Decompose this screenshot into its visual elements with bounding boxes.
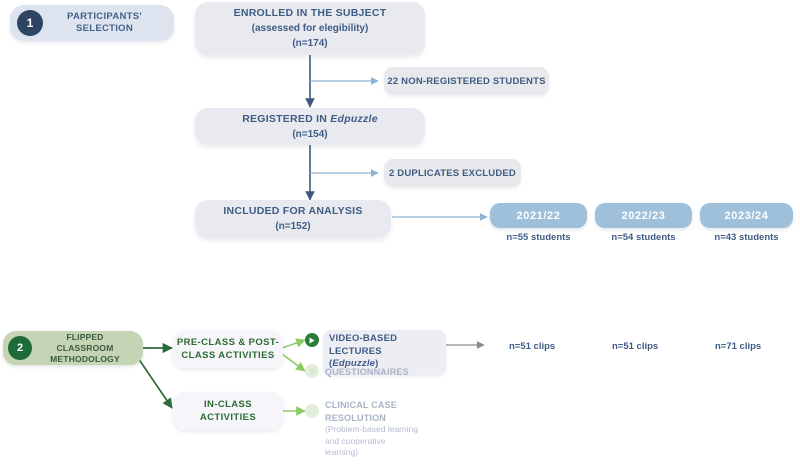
clip-count-2: n=51 clips: [612, 341, 658, 352]
stage-2-number: 2: [8, 336, 32, 360]
clinical-case-glyph-icon: [308, 407, 316, 415]
box-pre-class-post-class-activities: PRE-CLASS & POST- CLASS ACTIVITIES: [173, 330, 283, 368]
clip-count-1: n=51 clips: [509, 341, 555, 352]
box-included-for-analysis: INCLUDED FOR ANALYSIS (n=152): [195, 200, 391, 238]
stage-2-badge: 2 FLIPPED CLASSROOM METHODOLOGY: [3, 331, 143, 365]
pre-class-label: PRE-CLASS & POST- CLASS ACTIVITIES: [177, 336, 279, 362]
cohort-students-3: n=43 students: [700, 232, 793, 243]
box-duplicates-excluded: 2 DUPLICATES EXCLUDED: [384, 159, 521, 187]
registered-title-italic: Edpuzzle: [330, 113, 378, 125]
stage-1-badge: 1 PARTICIPANTS' SELECTION: [10, 5, 174, 41]
clinical-case-title-line1: CLINICAL CASE: [325, 399, 475, 412]
clinical-case-sub-line3: learning): [325, 447, 475, 459]
enrolled-subtitle: (assessed for elegibility): [252, 21, 369, 36]
clip-count-label: n=51 clips: [509, 341, 555, 352]
in-class-line1: IN-CLASS: [204, 399, 252, 410]
clip-count-label: n=71 clips: [715, 341, 761, 352]
play-triangle-icon: [309, 337, 315, 344]
stage-1-label-line2: SELECTION: [76, 23, 133, 34]
clinical-case-sub-line2: and cooperative: [325, 436, 475, 448]
activity-questionnaires: QUESTIONNAIRES: [325, 366, 455, 379]
play-circle-icon: [305, 333, 319, 347]
pre-class-line1: PRE-CLASS & POST-: [177, 337, 279, 348]
cohort-year-label: 2022/23: [622, 210, 666, 222]
questionnaire-lines-icon: [309, 368, 316, 375]
stage-2-label-line1: FLIPPED CLASSROOM: [56, 332, 113, 353]
stage-1-label-line1: PARTICIPANTS': [67, 11, 142, 22]
stage-2-label: FLIPPED CLASSROOM METHODOLOGY: [32, 332, 133, 365]
flowchart-canvas: 1 PARTICIPANTS' SELECTION ENROLLED IN TH…: [0, 0, 800, 467]
clip-count-3: n=71 clips: [715, 341, 761, 352]
stage-1-number: 1: [17, 10, 43, 36]
questionnaires-title: QUESTIONNAIRES: [325, 367, 409, 377]
cohort-students-label: n=54 students: [611, 232, 675, 243]
cohort-year-label: 2021/22: [517, 210, 561, 222]
clinical-case-icon: [305, 404, 319, 418]
stage-2-label-line2: METHODOLOGY: [50, 354, 120, 364]
cohort-year-box-3: 2023/24: [700, 203, 793, 228]
in-class-label: IN-CLASS ACTIVITIES: [200, 398, 256, 424]
registered-title: REGISTERED IN Edpuzzle: [242, 112, 378, 127]
in-class-line2: ACTIVITIES: [200, 412, 256, 423]
included-count: (n=152): [275, 219, 310, 234]
clinical-case-title-line2: RESOLUTION: [325, 412, 475, 425]
registered-title-prefix: REGISTERED IN: [242, 113, 330, 125]
non-registered-label: 22 NON-REGISTERED STUDENTS: [387, 76, 545, 87]
enrolled-title: ENROLLED IN THE SUBJECT: [234, 6, 387, 21]
registered-count: (n=154): [292, 127, 327, 142]
cohort-year-box-1: 2021/22: [490, 203, 587, 228]
stage-1-label: PARTICIPANTS' SELECTION: [43, 11, 160, 35]
box-non-registered-students: 22 NON-REGISTERED STUDENTS: [384, 67, 549, 95]
enrolled-count: (n=174): [292, 36, 327, 51]
pre-class-line2: CLASS ACTIVITIES: [181, 350, 274, 361]
cohort-students-label: n=43 students: [714, 232, 778, 243]
cohort-year-label: 2023/24: [725, 210, 769, 222]
cohort-students-1: n=55 students: [490, 232, 587, 243]
box-enrolled-in-subject: ENROLLED IN THE SUBJECT (assessed for el…: [195, 2, 425, 55]
clip-count-label: n=51 clips: [612, 341, 658, 352]
box-registered-edpuzzle: REGISTERED IN Edpuzzle (n=154): [195, 108, 425, 145]
activity-clinical-case-resolution: CLINICAL CASE RESOLUTION (Problem-based …: [325, 399, 475, 459]
clinical-case-sub-line1: (Problem-based learning: [325, 424, 475, 436]
included-title: INCLUDED FOR ANALYSIS: [223, 204, 362, 219]
cohort-students-2: n=54 students: [595, 232, 692, 243]
duplicates-label: 2 DUPLICATES EXCLUDED: [389, 168, 516, 179]
box-in-class-activities: IN-CLASS ACTIVITIES: [173, 392, 283, 430]
cohort-year-box-2: 2022/23: [595, 203, 692, 228]
video-lectures-title: VIDEO-BASED LECTURES: [329, 333, 439, 358]
questionnaire-icon: [305, 364, 319, 378]
cohort-students-label: n=55 students: [506, 232, 570, 243]
